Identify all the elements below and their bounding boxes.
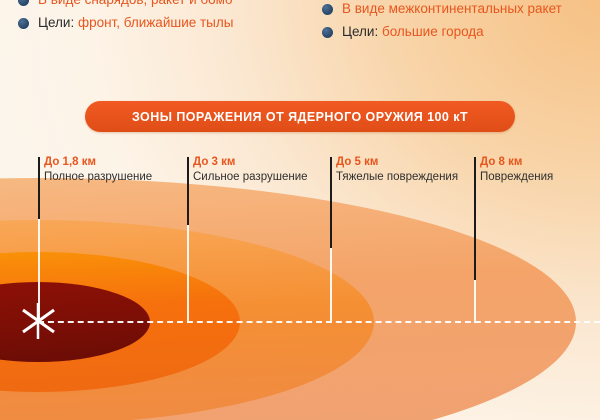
- bullet-column-right: В виде межконтинентальных ракет Цели: бо…: [322, 0, 594, 46]
- list-item-prefix: Цели:: [342, 24, 382, 39]
- legend-distance: До 3 км: [193, 155, 308, 170]
- list-item: В виде межконтинентальных ракет: [322, 0, 594, 17]
- list-item: В виде снарядов, ракет и бомб: [18, 0, 318, 8]
- infographic-root: В виде снарядов, ракет и бомб Цели: фрон…: [0, 0, 600, 420]
- epicenter-x-icon: [18, 303, 60, 339]
- page-title: ЗОНЫ ПОРАЖЕНИЯ ОТ ЯДЕРНОГО ОРУЖИЯ 100 кТ: [132, 110, 468, 124]
- bullet-column-left: В виде снарядов, ракет и бомб Цели: фрон…: [18, 0, 318, 37]
- legend-distance: До 8 км: [480, 155, 553, 170]
- legend-item-4: До 8 км Повреждения: [480, 155, 553, 185]
- legend-effect: Тяжелые повреждения: [336, 170, 458, 185]
- legend-item-3: До 5 км Тяжелые повреждения: [336, 155, 458, 185]
- list-item-text: В виде межконтинентальных ракет: [342, 1, 562, 16]
- radius-dashed-line: [38, 321, 600, 323]
- distance-legend: До 1,8 км Полное разрушение До 3 км Силь…: [0, 155, 600, 200]
- bullet-dot-icon: [18, 0, 29, 6]
- list-item-label: Цели: фронт, ближайшие тылы: [38, 14, 233, 31]
- tick-line-3-bottom: [330, 248, 332, 323]
- list-item: Цели: фронт, ближайшие тылы: [18, 14, 318, 31]
- list-item-text: В виде снарядов, ракет и бомб: [38, 0, 233, 7]
- legend-item-2: До 3 км Сильное разрушение: [193, 155, 308, 185]
- legend-effect: Повреждения: [480, 170, 553, 185]
- bullet-dot-icon: [18, 18, 29, 29]
- list-item-text: большие города: [382, 24, 484, 39]
- list-item-prefix: Цели:: [38, 15, 78, 30]
- tick-line-2-bottom: [187, 225, 189, 323]
- list-item-text: фронт, ближайшие тылы: [78, 15, 234, 30]
- tick-line-4-bottom: [474, 280, 476, 323]
- bullet-dot-icon: [322, 4, 333, 15]
- legend-effect: Полное разрушение: [44, 170, 152, 185]
- legend-distance: До 5 км: [336, 155, 458, 170]
- legend-distance: До 1,8 км: [44, 155, 152, 170]
- legend-effect: Сильное разрушение: [193, 170, 308, 185]
- list-item-label: Цели: большие города: [342, 23, 484, 40]
- header-bullets: В виде снарядов, ракет и бомб Цели: фрон…: [0, 0, 600, 92]
- bullet-dot-icon: [322, 27, 333, 38]
- list-item-label: В виде снарядов, ракет и бомб: [38, 0, 233, 8]
- list-item: Цели: большие города: [322, 23, 594, 40]
- list-item-label: В виде межконтинентальных ракет: [342, 0, 562, 17]
- legend-item-1: До 1,8 км Полное разрушение: [44, 155, 152, 185]
- chart-title-banner: ЗОНЫ ПОРАЖЕНИЯ ОТ ЯДЕРНОГО ОРУЖИЯ 100 кТ: [85, 101, 515, 132]
